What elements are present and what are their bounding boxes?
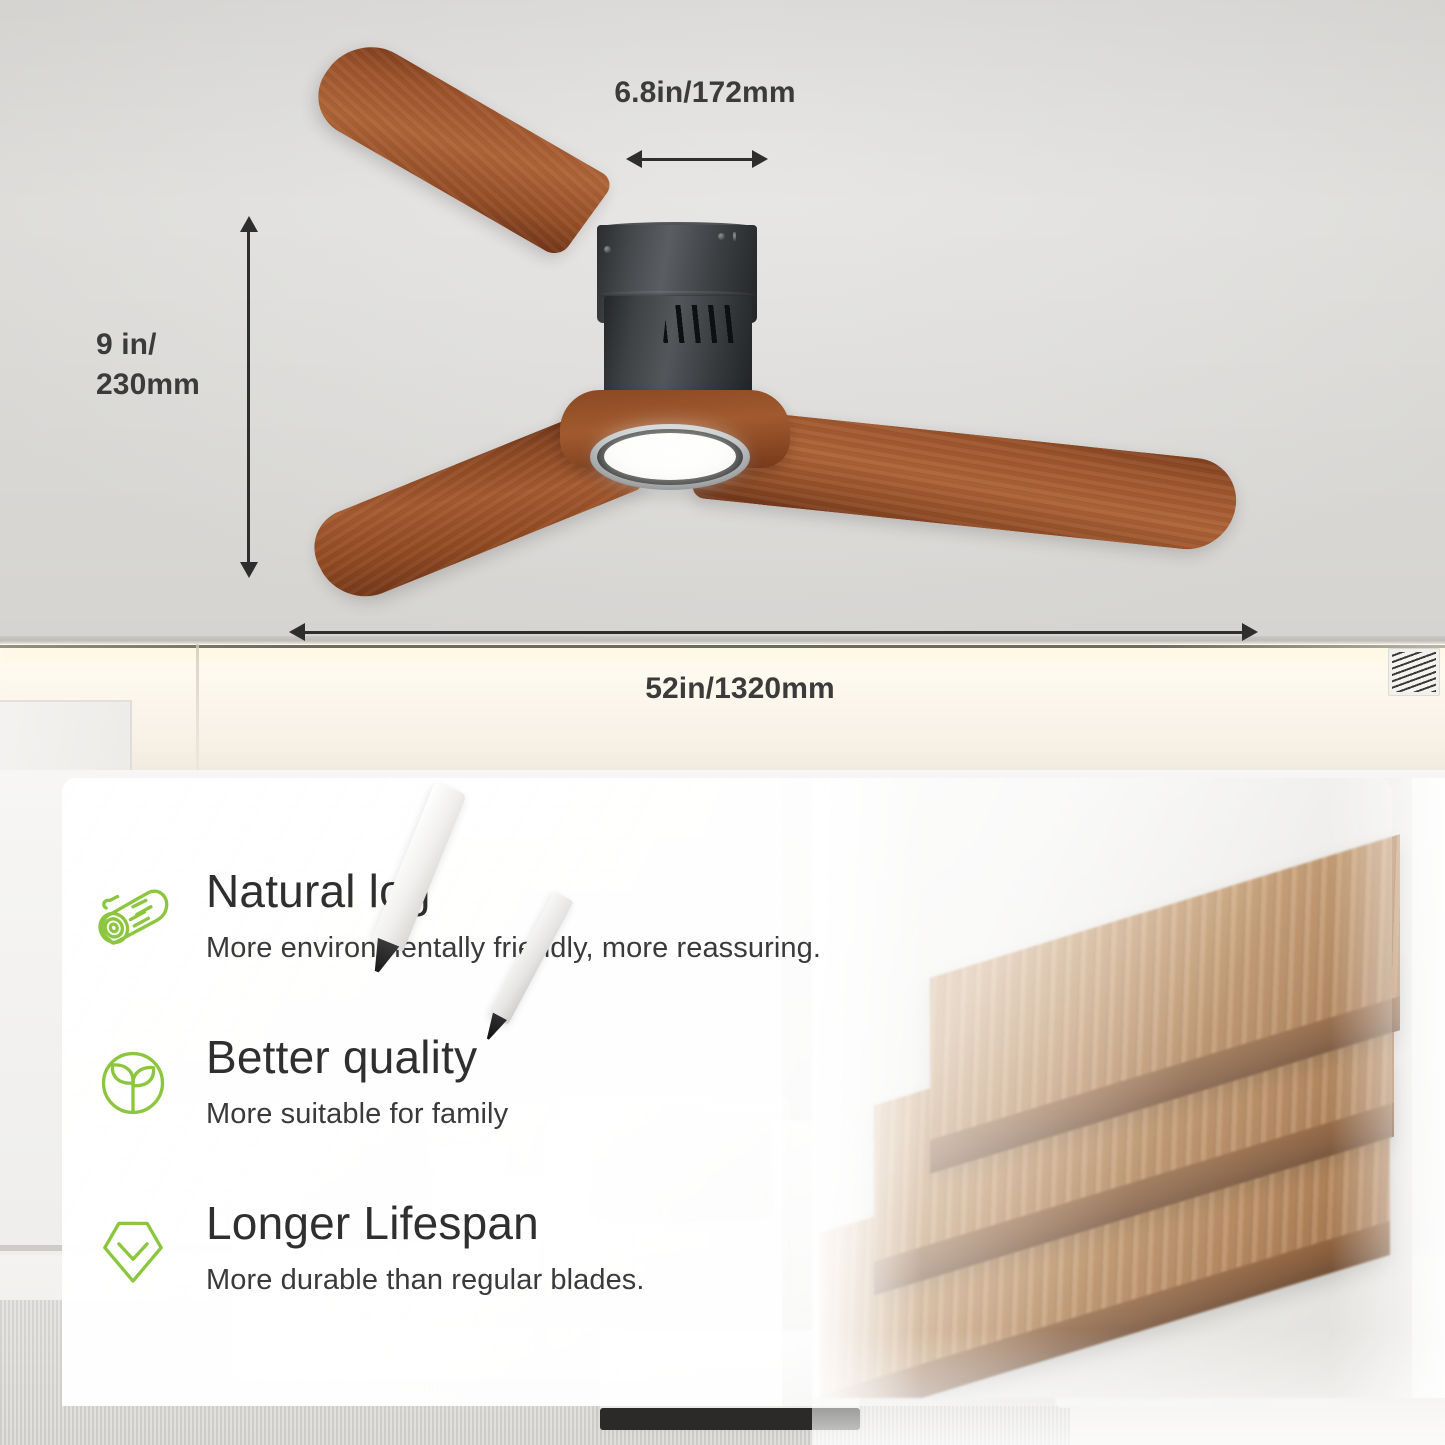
- housing-screw: [733, 232, 736, 242]
- dimension-arrowhead-right: [1242, 623, 1258, 641]
- dimension-arrowhead-left: [626, 150, 642, 168]
- dimension-label-height: 9 in/ 230mm: [96, 325, 246, 405]
- feature-subtitle: More durable than regular blades.: [206, 1264, 645, 1297]
- led-light-panel: [604, 433, 736, 480]
- feature-title: Better quality: [206, 1030, 477, 1084]
- feature-item-longer-lifespan: Longer Lifespan More durable than regula…: [78, 1192, 978, 1358]
- dimension-arrowhead-up: [240, 216, 258, 232]
- vent-slats-icon: [1392, 652, 1436, 692]
- dimension-arrow-width-line: [302, 631, 1246, 634]
- housing-screw: [718, 233, 725, 240]
- ceiling-shadow-line: [0, 645, 1445, 648]
- hvac-vent: [1388, 648, 1440, 696]
- dimension-arrowhead-down: [240, 562, 258, 578]
- feature-item-better-quality: Better quality More suitable for family: [78, 1026, 978, 1192]
- fan-blade-upper-left: [299, 31, 616, 259]
- log-icon: [92, 876, 174, 958]
- feature-subtitle: More environmentally friendly, more reas…: [206, 932, 821, 965]
- housing-screw: [604, 246, 611, 253]
- feature-list: Natural log More environmentally friendl…: [78, 860, 978, 1358]
- motor-vent-slots: [663, 305, 739, 343]
- feature-title: Longer Lifespan: [206, 1196, 539, 1250]
- dimension-arrowhead-left: [289, 623, 305, 641]
- dimension-label-width: 52in/1320mm: [535, 672, 945, 706]
- dimension-arrowhead-right: [752, 150, 768, 168]
- feature-subtitle: More suitable for family: [206, 1098, 508, 1131]
- dimension-arrow-height-line: [247, 230, 250, 570]
- dimension-arrow-housing-line: [636, 158, 758, 161]
- dimension-label-housing-diameter: 6.8in/172mm: [600, 76, 810, 110]
- sprout-circle-icon: [92, 1042, 174, 1124]
- chevron-shield-icon: [92, 1208, 174, 1290]
- product-infographic: 6.8in/172mm 9 in/ 230mm 52in/1320mm: [0, 0, 1445, 1445]
